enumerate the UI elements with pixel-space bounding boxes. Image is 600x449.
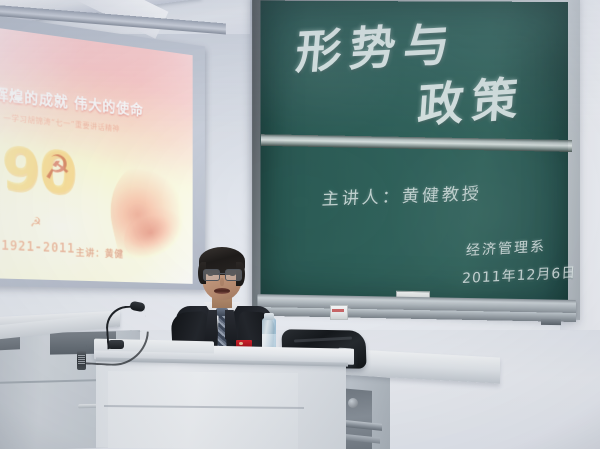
blackboard-bracket bbox=[541, 319, 561, 325]
hammer-and-sickle-icon: ☭ bbox=[41, 148, 72, 188]
cabinet-knob[interactable] bbox=[348, 398, 358, 408]
slide-years: 1921-2011 bbox=[1, 239, 75, 257]
blackboard-department-line: 经济管理系 bbox=[466, 236, 547, 260]
presenter-mouth bbox=[214, 288, 230, 294]
glasses-lens-left-icon bbox=[203, 269, 220, 281]
slide-presenter-line: 主讲：黄健 bbox=[76, 244, 124, 260]
lectern-front-panel bbox=[108, 371, 298, 449]
presenter-lapel-badge-emblem bbox=[239, 342, 243, 345]
projection-screen: 辉煌的成就 伟大的使命 —学习胡锦涛“七一”重要讲话精神 90 ☭ ☭ 1921… bbox=[0, 26, 193, 284]
blackboard-title-line-2: 政策 bbox=[416, 62, 528, 136]
lecture-hall-photo: 辉煌的成就 伟大的使命 —学习胡锦涛“七一”重要讲话精神 90 ☭ ☭ 1921… bbox=[0, 0, 600, 449]
chalk-box[interactable] bbox=[330, 305, 348, 320]
presenter-nose bbox=[220, 278, 224, 286]
hammer-and-sickle-small-icon: ☭ bbox=[30, 215, 42, 231]
glasses-lens-right-icon bbox=[225, 269, 242, 281]
remote-control-buttons[interactable] bbox=[78, 355, 85, 364]
glasses-bridge bbox=[218, 273, 225, 274]
chalk-box-label bbox=[332, 309, 344, 312]
water-bottle-cap[interactable] bbox=[264, 313, 274, 320]
